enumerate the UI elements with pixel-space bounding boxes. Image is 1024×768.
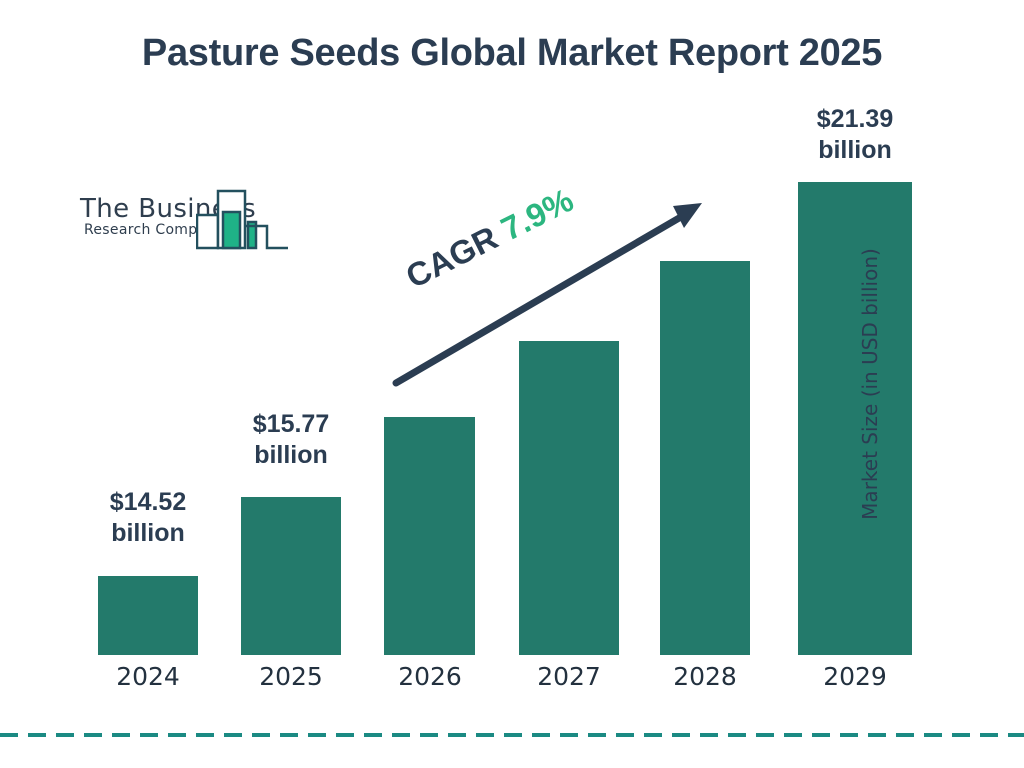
bar-2024	[98, 576, 198, 655]
cagr-annotation: CAGR 7.9%	[400, 181, 579, 296]
x-axis-label-2028: 2028	[645, 662, 765, 691]
cagr-label: CAGR	[400, 219, 503, 295]
bar-value-label-2024: $14.52 billion	[78, 487, 218, 548]
bar-value-unit: billion	[765, 135, 945, 166]
cagr-value: 7.9%	[495, 181, 579, 248]
bar-value-unit: billion	[78, 518, 218, 549]
bar-value-amount: $21.39	[765, 104, 945, 135]
bar-2029	[798, 182, 912, 655]
bar-2025	[241, 497, 341, 655]
footer-divider	[0, 733, 1024, 737]
y-axis-title: Market Size (in USD billion)	[858, 248, 882, 520]
bar-value-label-2029: $21.39 billion	[765, 104, 945, 165]
chart-canvas: Pasture Seeds Global Market Report 2025 …	[0, 0, 1024, 768]
x-axis-label-2026: 2026	[370, 662, 490, 691]
bar-value-amount: $14.52	[78, 487, 218, 518]
x-axis-label-2024: 2024	[88, 662, 208, 691]
bar-chart-logo-mark	[196, 186, 288, 252]
bar-2026	[384, 417, 475, 655]
x-axis-label-2025: 2025	[231, 662, 351, 691]
bar-2027	[519, 341, 619, 655]
x-axis-label-2027: 2027	[509, 662, 629, 691]
bar-value-unit: billion	[221, 440, 361, 471]
x-axis-label-2029: 2029	[795, 662, 915, 691]
company-logo: The Business Research Company	[78, 186, 288, 252]
bar-value-amount: $15.77	[221, 409, 361, 440]
bar-value-label-2025: $15.77 billion	[221, 409, 361, 470]
page-title: Pasture Seeds Global Market Report 2025	[0, 32, 1024, 75]
bar-2028	[660, 261, 750, 655]
